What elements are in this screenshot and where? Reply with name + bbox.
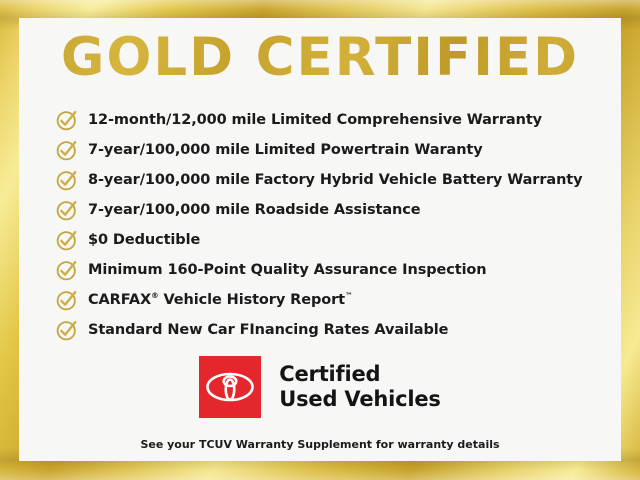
lockup-text: Certified Used Vehicles	[279, 362, 440, 412]
list-item: 8-year/100,000 mile Factory Hybrid Vehic…	[55, 165, 583, 195]
feature-label: 12-month/12,000 mile Limited Comprehensi…	[88, 113, 542, 128]
trademark-mark: ™	[345, 291, 352, 300]
feature-list: 12-month/12,000 mile Limited Comprehensi…	[55, 105, 583, 345]
check-circle-icon	[55, 168, 79, 192]
carfax-report-text: Vehicle History Report	[159, 292, 345, 308]
check-circle-icon	[55, 228, 79, 252]
feature-label: Minimum 160-Point Quality Assurance Insp…	[88, 263, 487, 278]
gold-certified-badge: GOLD CERTIFIED 12-month/12,000 mile Limi…	[0, 0, 640, 480]
feature-label: Standard New Car FInancing Rates Availab…	[88, 323, 448, 338]
check-circle-icon	[55, 138, 79, 162]
registered-mark: ®	[151, 291, 158, 300]
check-circle-icon	[55, 258, 79, 282]
list-item: 7-year/100,000 mile Roadside Assistance	[55, 195, 583, 225]
badge-card: GOLD CERTIFIED 12-month/12,000 mile Limi…	[19, 18, 621, 461]
list-item: Standard New Car FInancing Rates Availab…	[55, 315, 583, 345]
feature-label: 7-year/100,000 mile Roadside Assistance	[88, 203, 420, 218]
list-item: 12-month/12,000 mile Limited Comprehensi…	[55, 105, 583, 135]
toyota-emblem-icon	[206, 370, 254, 404]
list-item: CARFAX® Vehicle History Report™	[55, 285, 583, 315]
lockup-line-2: Used Vehicles	[279, 387, 440, 412]
feature-label-carfax: CARFAX® Vehicle History Report™	[88, 293, 352, 308]
check-circle-icon	[55, 198, 79, 222]
toyota-logo-tile	[199, 356, 261, 418]
page-title: GOLD CERTIFIED	[19, 31, 621, 84]
warranty-disclaimer: See your TCUV Warranty Supplement for wa…	[19, 438, 621, 451]
list-item: Minimum 160-Point Quality Assurance Insp…	[55, 255, 583, 285]
list-item: $0 Deductible	[55, 225, 583, 255]
check-circle-icon	[55, 108, 79, 132]
feature-label: $0 Deductible	[88, 233, 200, 248]
check-circle-icon	[55, 288, 79, 312]
list-item: 7-year/100,000 mile Limited Powertrain W…	[55, 135, 583, 165]
carfax-wordmark: CARFAX	[88, 292, 151, 308]
feature-label: 8-year/100,000 mile Factory Hybrid Vehic…	[88, 173, 583, 188]
check-circle-icon	[55, 318, 79, 342]
toyota-certified-lockup: Certified Used Vehicles	[19, 356, 621, 418]
lockup-line-1: Certified	[279, 362, 440, 387]
feature-label: 7-year/100,000 mile Limited Powertrain W…	[88, 143, 483, 158]
